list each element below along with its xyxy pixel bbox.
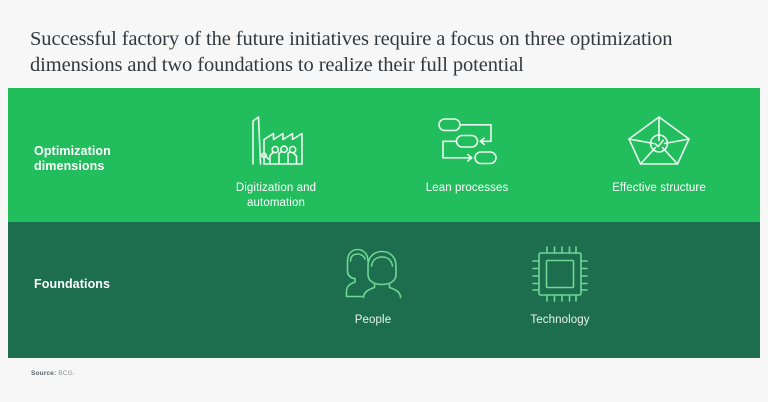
process-flow-icon <box>387 110 547 172</box>
item-digitization-and-automation[interactable]: Digitization and automation <box>196 110 356 211</box>
item-caption: Technology <box>480 313 640 328</box>
item-people[interactable]: People <box>293 242 453 328</box>
band-label-line-1: Foundations <box>34 277 110 292</box>
item-caption: People <box>293 313 453 328</box>
caption-line-1: Technology <box>480 313 640 328</box>
item-caption: Digitization and automation <box>196 181 356 211</box>
caption-line-1: People <box>293 313 453 328</box>
band-optimization-dimensions: Optimization dimensions <box>8 88 760 222</box>
band-foundations: Foundations Peop <box>8 222 760 358</box>
band-label-line-1: Optimization <box>34 144 111 159</box>
caption-line-1: Lean processes <box>387 181 547 196</box>
item-caption: Effective structure <box>579 181 739 196</box>
band-label-optimization: Optimization dimensions <box>34 144 111 174</box>
factory-circuit-icon <box>196 110 356 172</box>
source-value: BCG. <box>58 370 75 377</box>
page-title: Successful factory of the future initiat… <box>30 26 730 78</box>
caption-line-1: Effective structure <box>579 181 739 196</box>
item-technology[interactable]: Technology <box>480 242 640 328</box>
microchip-icon <box>480 242 640 304</box>
item-lean-processes[interactable]: Lean processes <box>387 110 547 196</box>
source-prefix: Source: <box>31 370 56 377</box>
band-label-foundations: Foundations <box>34 277 110 292</box>
pentagon-check-icon <box>579 110 739 172</box>
slide-canvas: Successful factory of the future initiat… <box>0 0 768 402</box>
item-effective-structure[interactable]: Effective structure <box>579 110 739 196</box>
source-note: Source: BCG. <box>31 370 75 377</box>
item-caption: Lean processes <box>387 181 547 196</box>
caption-line-2: automation <box>196 196 356 211</box>
band-label-line-2: dimensions <box>34 159 111 174</box>
two-people-icon <box>293 242 453 304</box>
caption-line-1: Digitization and <box>196 181 356 196</box>
